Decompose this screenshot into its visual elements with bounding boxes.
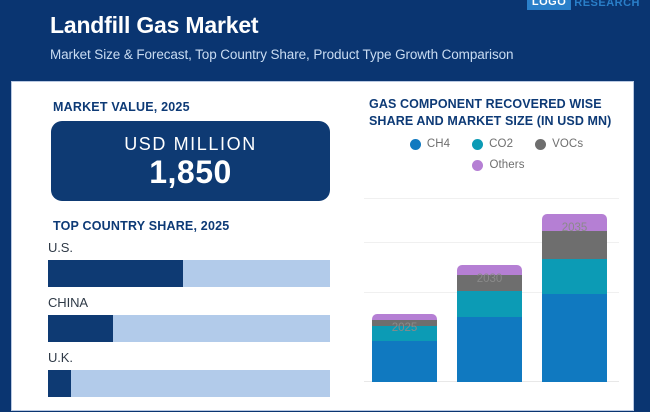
legend-dot-icon	[472, 139, 483, 150]
country-label: CHINA	[48, 295, 332, 310]
legend-label: VOCs	[552, 138, 583, 150]
bar-group[interactable]: 2025	[372, 314, 437, 382]
country-share-row: U.K.	[48, 350, 332, 397]
bar-stack	[542, 214, 607, 382]
legend-label: CO2	[489, 138, 513, 150]
legend-row-primary: CH4CO2VOCs	[369, 138, 624, 150]
bar-group[interactable]: 2035	[542, 214, 607, 382]
logo-mark: LOGO	[527, 0, 571, 10]
country-label: U.S.	[48, 240, 332, 255]
country-share-list: U.S.CHINAU.K.	[48, 240, 332, 405]
page-title: Landfill Gas Market	[50, 12, 258, 39]
market-value-number: 1,850	[149, 155, 232, 190]
legend-dot-icon	[472, 160, 483, 171]
country-share-track	[48, 370, 330, 397]
country-label: U.K.	[48, 350, 332, 365]
legend-dot-icon	[535, 139, 546, 150]
bar-segment-ch4	[542, 294, 607, 382]
legend-item-vocs[interactable]: VOCs	[535, 138, 583, 150]
stacked-bar-chart: 202520302035	[364, 194, 626, 412]
brand-logo[interactable]: LOGO RESEARCH	[527, 0, 640, 10]
logo-text: RESEARCH	[574, 0, 640, 10]
bar-segment-vocs	[542, 231, 607, 259]
page-subtitle: Market Size & Forecast, Top Country Shar…	[50, 47, 513, 62]
country-share-track	[48, 315, 330, 342]
x-axis-label: 2030	[457, 273, 522, 285]
legend-row-secondary: Others	[369, 159, 624, 171]
market-value-card: USD MILLION 1,850	[51, 121, 330, 201]
country-share-row: U.S.	[48, 240, 332, 287]
header: Landfill Gas Market Market Size & Foreca…	[0, 0, 650, 80]
market-value-heading: MARKET VALUE, 2025	[53, 100, 190, 114]
country-share-fill	[48, 315, 113, 342]
legend-label: Others	[489, 159, 524, 171]
content-card: MARKET VALUE, 2025 USD MILLION 1,850 TOP…	[11, 81, 634, 411]
legend-item-ch4[interactable]: CH4	[410, 138, 450, 150]
chart-title: GAS COMPONENT RECOVERED WISE SHARE AND M…	[369, 96, 619, 130]
bar-segment-co2	[457, 291, 522, 316]
legend-item-co2[interactable]: CO2	[472, 138, 513, 150]
left-panel: MARKET VALUE, 2025 USD MILLION 1,850 TOP…	[12, 82, 342, 412]
market-value-unit: USD MILLION	[124, 133, 257, 155]
legend-dot-icon	[410, 139, 421, 150]
bar-group[interactable]: 2030	[457, 265, 522, 382]
right-panel: GAS COMPONENT RECOVERED WISE SHARE AND M…	[342, 82, 635, 412]
country-share-track	[48, 260, 330, 287]
gridline	[364, 198, 619, 199]
bar-segment-ch4	[457, 317, 522, 382]
bar-segment-co2	[542, 259, 607, 295]
country-share-heading: TOP COUNTRY SHARE, 2025	[53, 219, 229, 233]
legend-label: CH4	[427, 138, 450, 150]
country-share-fill	[48, 260, 183, 287]
bar-segment-ch4	[372, 341, 437, 382]
country-share-row: CHINA	[48, 295, 332, 342]
chart-legend: CH4CO2VOCs Others	[369, 138, 624, 171]
country-share-fill	[48, 370, 71, 397]
legend-item-others[interactable]: Others	[472, 159, 524, 171]
x-axis-label: 2025	[372, 322, 437, 334]
x-axis-label: 2035	[542, 222, 607, 234]
